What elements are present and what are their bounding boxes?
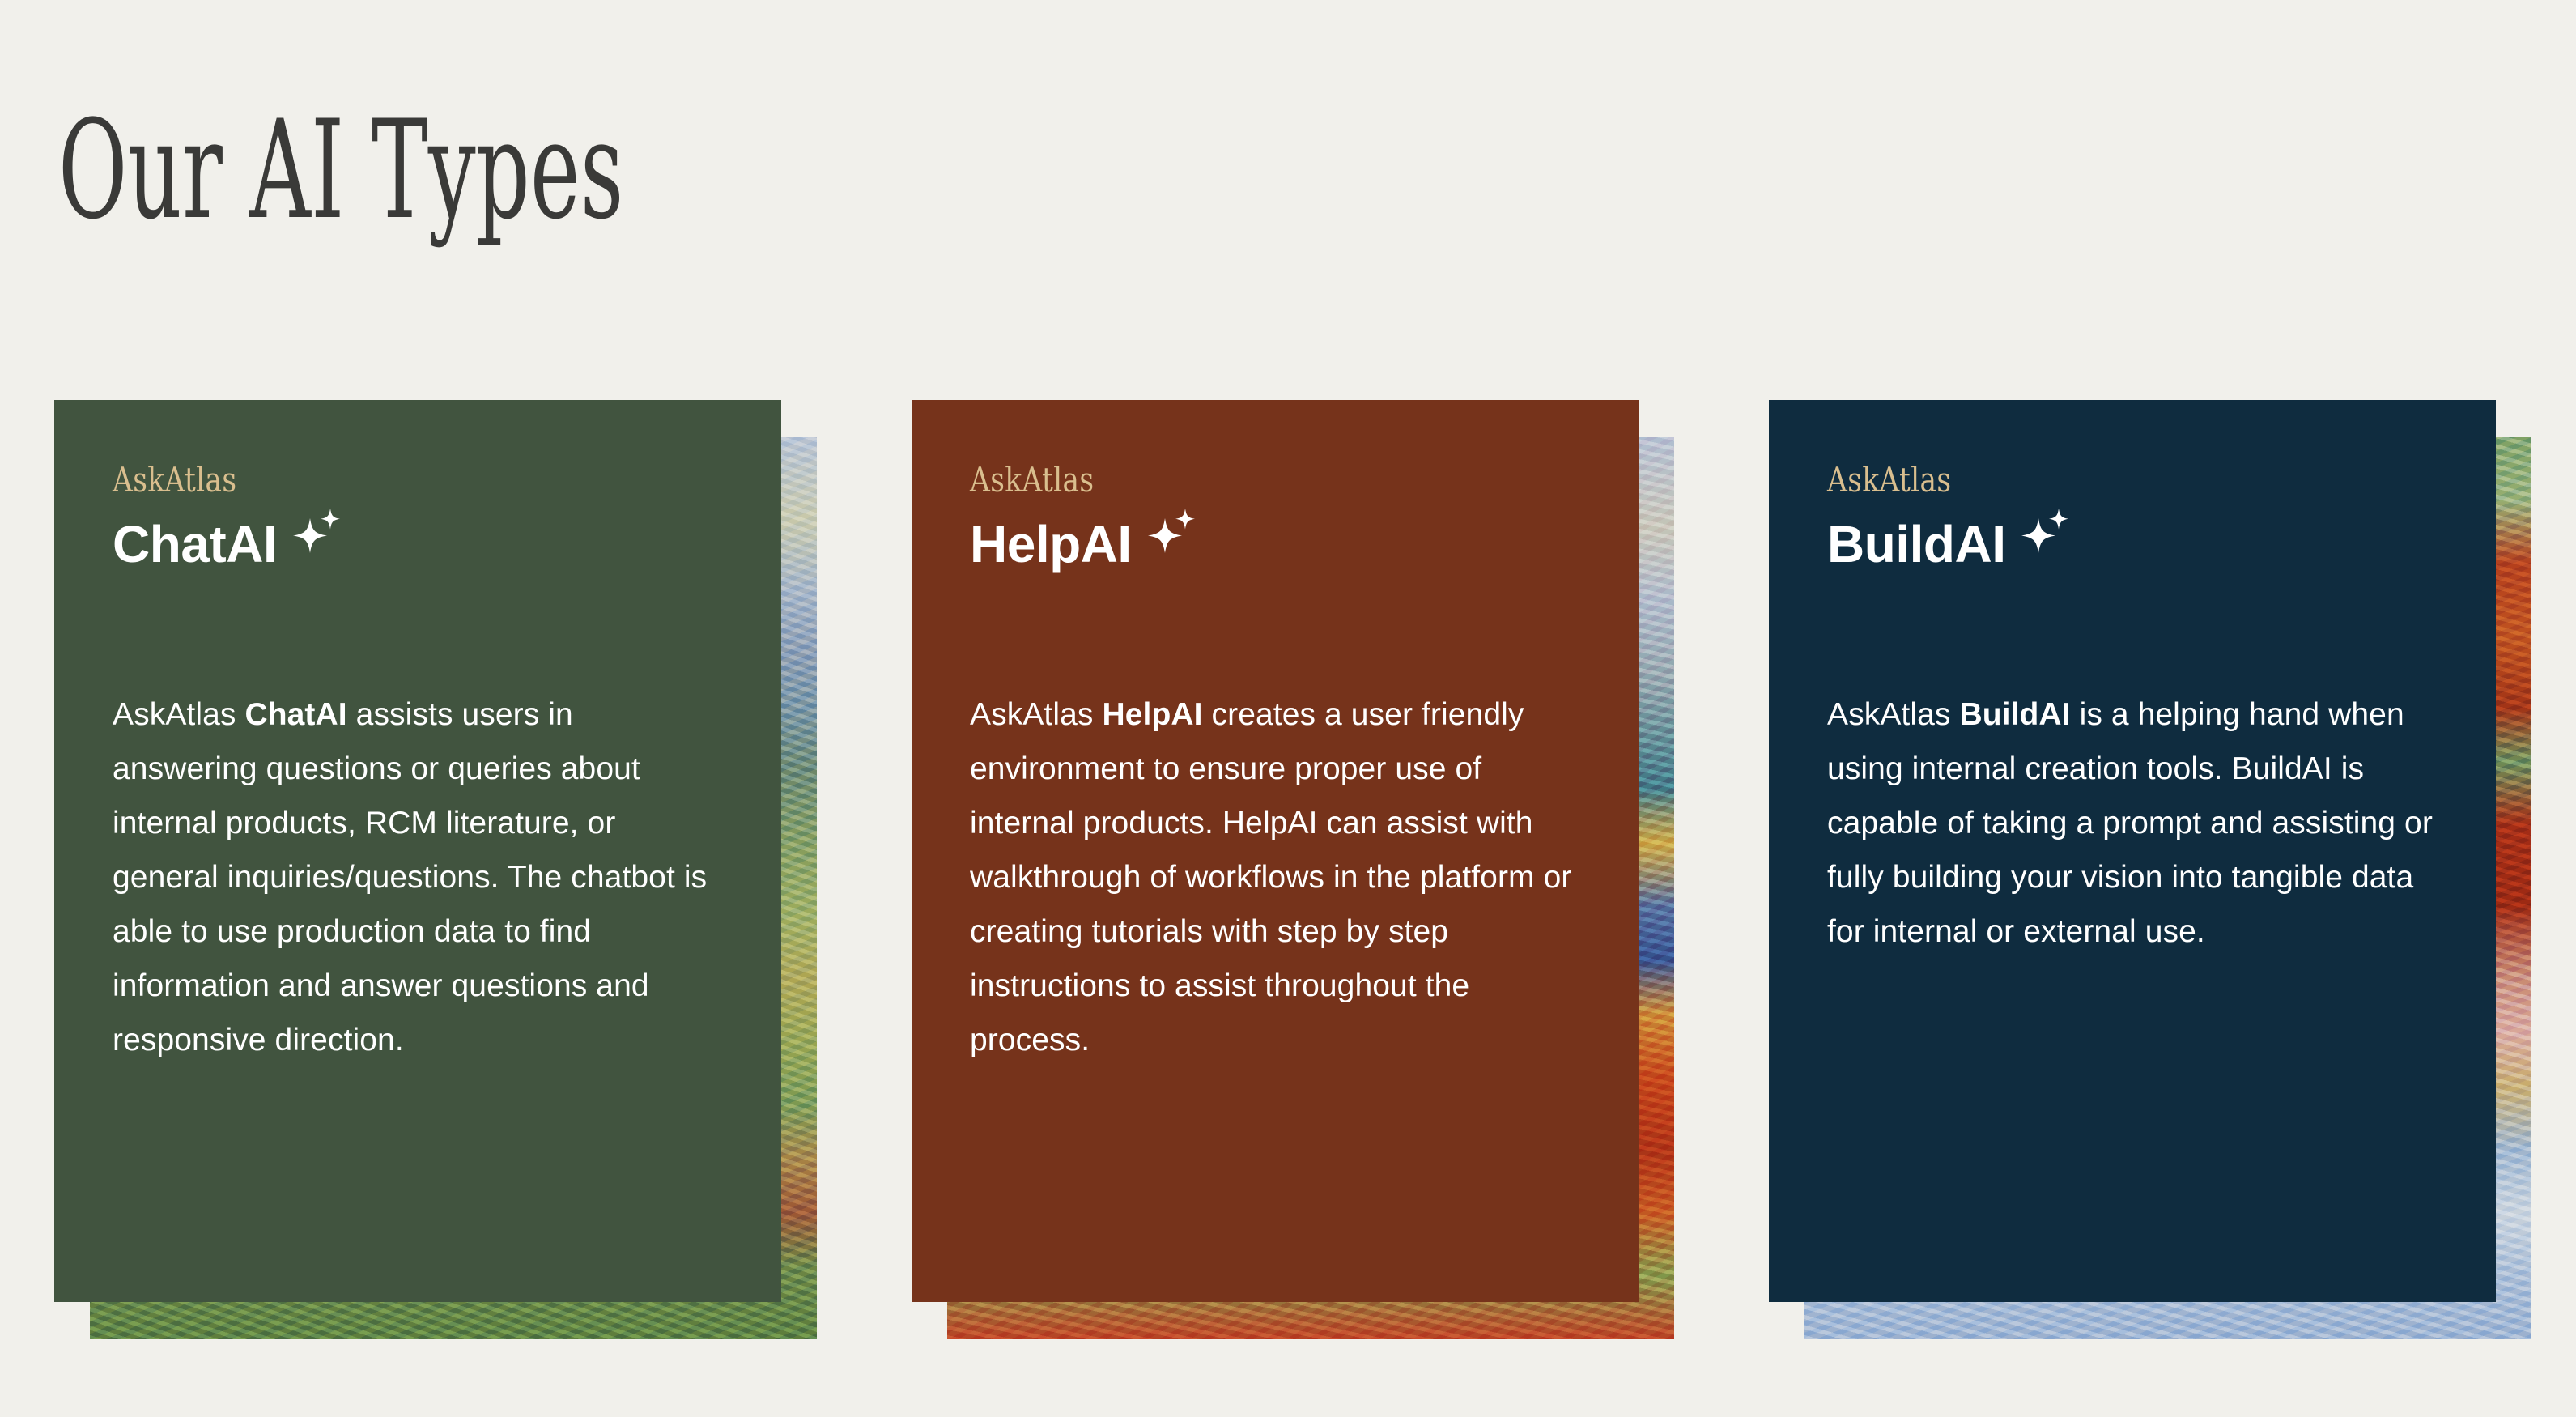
card-title-row: ChatAI	[113, 518, 723, 570]
sparkle-icon	[293, 509, 342, 558]
desc-lead: AskAtlas	[1827, 697, 1959, 732]
card-description: AskAtlas ChatAI assists users in answeri…	[113, 687, 723, 1068]
card-header-helpai: AskAtlas HelpAI	[912, 400, 1639, 581]
card-body-helpai: AskAtlas HelpAI creates a user friendly …	[912, 581, 1639, 1302]
sparkle-icon	[2021, 509, 2070, 558]
card-brand-label: AskAtlas	[970, 463, 1470, 497]
card-header-chatai: AskAtlas ChatAI	[54, 400, 781, 581]
card-body-chatai: AskAtlas ChatAI assists users in answeri…	[54, 581, 781, 1302]
desc-rest: creates a user friendly environment to e…	[970, 697, 1571, 1057]
ai-type-card-buildai[interactable]: AskAtlas BuildAI AskAtlas BuildAI is a h…	[1769, 400, 2496, 1339]
desc-lead: AskAtlas	[970, 697, 1102, 732]
card-description: AskAtlas BuildAI is a helping hand when …	[1827, 687, 2438, 959]
card-body-buildai: AskAtlas BuildAI is a helping hand when …	[1769, 581, 2496, 1302]
sparkle-icon	[1148, 509, 1197, 558]
card-title-row: BuildAI	[1827, 518, 2438, 570]
ai-type-card-chatai[interactable]: AskAtlas ChatAI AskAtlas ChatAI assists …	[54, 400, 781, 1339]
ai-type-card-helpai[interactable]: AskAtlas HelpAI AskAtlas HelpAI creates …	[912, 400, 1639, 1339]
page-title: Our AI Types	[58, 85, 624, 255]
card-title-row: HelpAI	[970, 518, 1580, 570]
card-panel-buildai: AskAtlas BuildAI AskAtlas BuildAI is a h…	[1769, 400, 2496, 1302]
card-title: BuildAI	[1827, 518, 2005, 570]
desc-rest: is a helping hand when using internal cr…	[1827, 697, 2433, 949]
card-panel-chatai: AskAtlas ChatAI AskAtlas ChatAI assists …	[54, 400, 781, 1302]
desc-product-name: HelpAI	[1102, 697, 1202, 732]
card-panel-helpai: AskAtlas HelpAI AskAtlas HelpAI creates …	[912, 400, 1639, 1302]
card-brand-label: AskAtlas	[1827, 463, 2327, 497]
ai-types-card-row: AskAtlas ChatAI AskAtlas ChatAI assists …	[0, 400, 2576, 1372]
desc-product-name: ChatAI	[244, 697, 346, 732]
desc-lead: AskAtlas	[113, 697, 244, 732]
desc-product-name: BuildAI	[1959, 697, 2070, 732]
card-brand-label: AskAtlas	[113, 463, 613, 497]
card-title: HelpAI	[970, 518, 1132, 570]
desc-rest: assists users in answering questions or …	[113, 697, 707, 1057]
card-header-buildai: AskAtlas BuildAI	[1769, 400, 2496, 581]
card-title: ChatAI	[113, 518, 277, 570]
card-description: AskAtlas HelpAI creates a user friendly …	[970, 687, 1580, 1068]
